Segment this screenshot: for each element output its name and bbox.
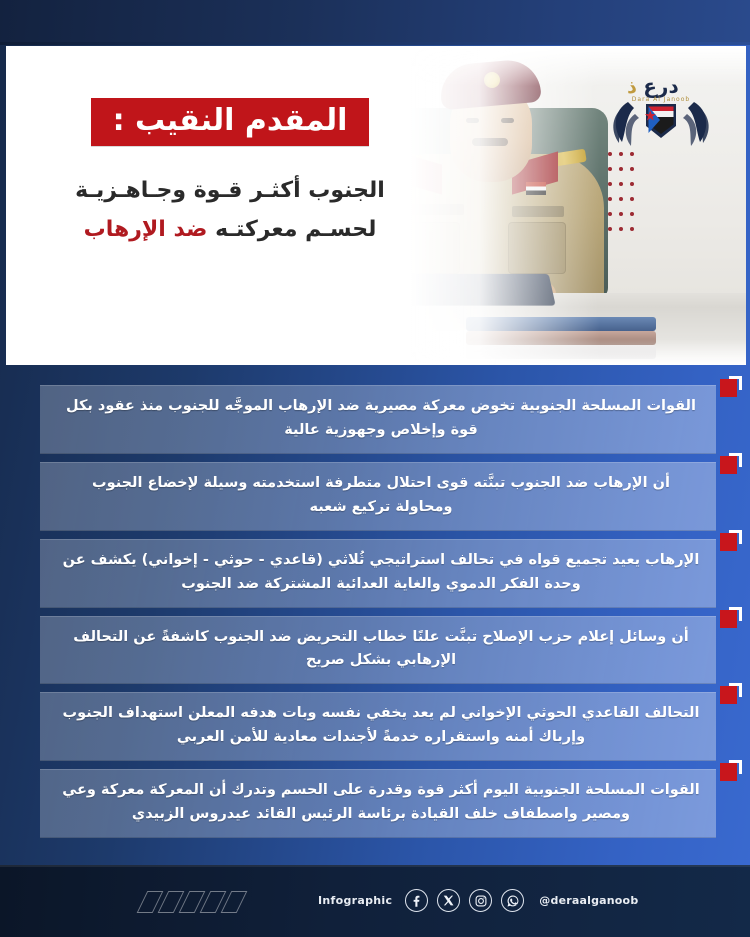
list-item: أن وسائل إعلام حزب الإصلاح تبنَّت علنًا … [40, 616, 716, 685]
instagram-icon[interactable] [469, 889, 492, 912]
hero-subtitle-highlight: ضد الإرهاب [84, 217, 208, 242]
x-icon[interactable] [437, 889, 460, 912]
bullet-marker-icon [720, 376, 742, 398]
social-handle[interactable]: @deraalganoob [539, 894, 638, 907]
list-item: التحالف القاعدي الحوثي الإخواني لم يعد ي… [40, 692, 716, 761]
bullet-marker-icon [720, 530, 742, 552]
bullet-marker-icon [720, 760, 742, 782]
list-item-text: القوات المسلحة الجنوبية اليوم أكثر قوة و… [62, 779, 700, 827]
hero-subtitle-line2: لحسـم معركتـه ضد الإرهاب [24, 211, 436, 250]
photo-fade-bottom [316, 339, 746, 365]
deraa-al-janoub-logo: درع ذ Dara Al Janoob [602, 60, 720, 160]
slash-decoration [142, 891, 242, 913]
list-item: القوات المسلحة الجنوبية اليوم أكثر قوة و… [40, 769, 716, 838]
list-item-text: القوات المسلحة الجنوبية تخوض معركة مصيري… [62, 395, 700, 443]
svg-text:ذ: ذ [627, 76, 637, 98]
list-item: القوات المسلحة الجنوبية تخوض معركة مصيري… [40, 385, 716, 454]
hero-text-block: المقدم النقيب : الجنوب أكثـر قـوة وجـاهـ… [24, 98, 436, 249]
list-item-text: الإرهاب يعيد تجميع قواه في تحالف استراتي… [62, 549, 700, 597]
list-item: الإرهاب يعيد تجميع قواه في تحالف استراتي… [40, 539, 716, 608]
bullet-marker-icon [720, 607, 742, 629]
list-item-text: أن الإرهاب ضد الجنوب تبنَّته قوى احتلال … [62, 472, 700, 520]
hero-subtitle-line1: الجنوب أكثـر قـوة وجـاهـزيـة [24, 172, 436, 211]
hero-subtitle-line2-prefix: لحسـم معركتـه [207, 217, 376, 242]
list-item: أن الإرهاب ضد الجنوب تبنَّته قوى احتلال … [40, 462, 716, 531]
svg-text:درع: درع [643, 74, 678, 98]
list-item-text: أن وسائل إعلام حزب الإصلاح تبنَّت علنًا … [62, 626, 700, 674]
hero-subtitle: الجنوب أكثـر قـوة وجـاهـزيـة لحسـم معركت… [24, 172, 436, 249]
facebook-icon[interactable] [405, 889, 428, 912]
whatsapp-icon[interactable] [501, 889, 524, 912]
infographic-label: Infographic [318, 894, 392, 907]
svg-text:Dara Al Janoob: Dara Al Janoob [632, 96, 690, 103]
points-list: القوات المسلحة الجنوبية تخوض معركة مصيري… [40, 385, 716, 846]
bullet-marker-icon [720, 683, 742, 705]
social-bar: Infographic [318, 889, 638, 912]
bullet-marker-icon [720, 453, 742, 475]
footer-bar: Infographic [0, 865, 750, 937]
list-item-text: التحالف القاعدي الحوثي الإخواني لم يعد ي… [62, 702, 700, 750]
top-band [0, 0, 750, 45]
hero-card: درع ذ Dara Al Janoob المقدم النقيب : الج… [6, 46, 746, 365]
infographic-poster: درع ذ Dara Al Janoob المقدم النقيب : الج… [0, 0, 750, 937]
page-title: المقدم النقيب : [91, 98, 370, 146]
